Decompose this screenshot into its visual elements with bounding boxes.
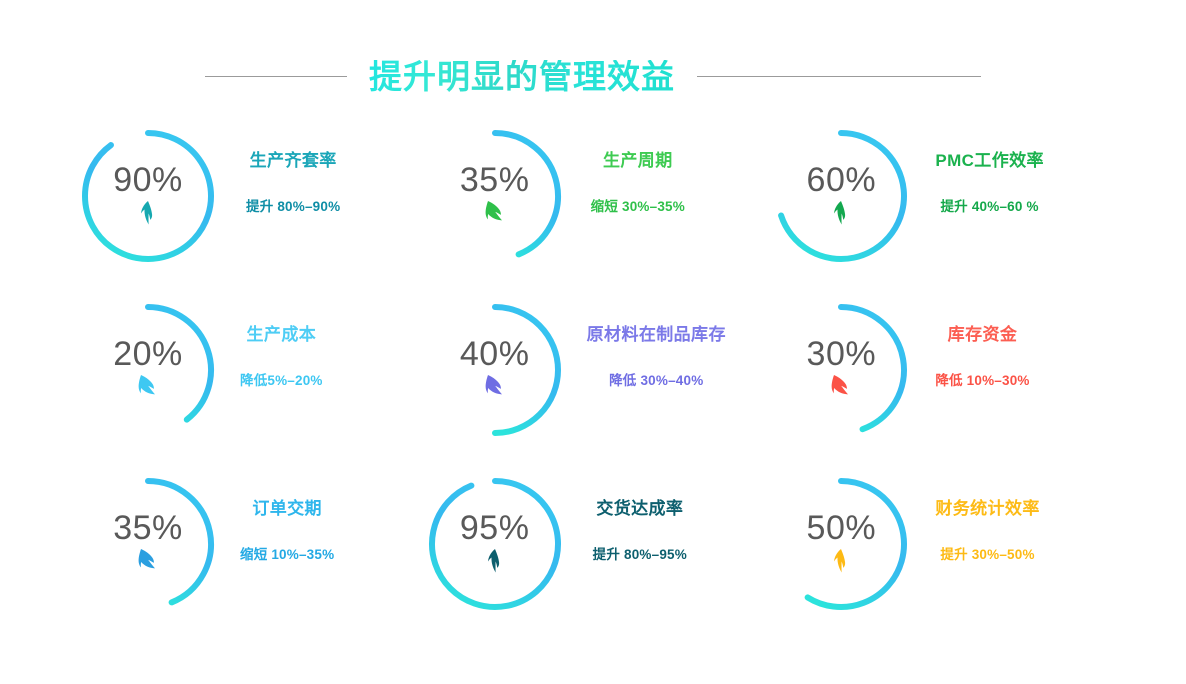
metric-card: 95%交货达成率提升 80%–95% xyxy=(425,468,772,642)
metric-delta: 提升 80%–95% xyxy=(593,543,687,563)
metric-delta: 降低5%–20% xyxy=(240,369,323,389)
metric-labels: 原材料在制品库存降低 30%–40% xyxy=(587,300,726,389)
metric-percent: 35% xyxy=(460,163,530,197)
metric-labels: 生产成本降低5%–20% xyxy=(240,300,323,389)
metric-labels: 财务统计效率提升 30%–50% xyxy=(935,474,1039,563)
metric-percent: 95% xyxy=(460,511,530,545)
arrow-down-icon xyxy=(484,374,506,400)
metric-name: 原材料在制品库存 xyxy=(587,326,726,345)
metric-labels: PMC工作效率提升 40%–60 % xyxy=(935,126,1044,215)
metric-labels: 生产齐套率提升 80%–90% xyxy=(246,126,340,215)
metric-name: 交货达成率 xyxy=(596,500,683,519)
header-rule-right xyxy=(697,76,981,77)
progress-ring: 95% xyxy=(425,474,565,614)
arrow-up-icon xyxy=(137,200,159,226)
ring-center: 50% xyxy=(771,474,911,614)
progress-ring: 40% xyxy=(425,300,565,440)
metric-delta: 降低 30%–40% xyxy=(609,369,703,389)
metric-name: 生产周期 xyxy=(603,152,673,171)
ring-center: 30% xyxy=(771,300,911,440)
slide-canvas: 提升明显的管理效益 90%生产齐套率提升 80%–90%35%生产周期缩短 30… xyxy=(0,0,1186,684)
metric-name: 财务统计效率 xyxy=(935,500,1039,519)
arrow-up-icon xyxy=(830,548,852,574)
metric-card: 40%原材料在制品库存降低 30%–40% xyxy=(425,294,772,468)
metric-percent: 50% xyxy=(807,511,877,545)
metric-labels: 订单交期缩短 10%–35% xyxy=(240,474,334,563)
ring-center: 35% xyxy=(425,126,565,266)
metric-name: 生产成本 xyxy=(247,326,317,345)
progress-ring: 20% xyxy=(78,300,218,440)
metric-card: 50%财务统计效率提升 30%–50% xyxy=(771,468,1118,642)
arrow-up-icon xyxy=(484,548,506,574)
metric-delta: 缩短 30%–35% xyxy=(591,195,685,215)
metric-delta: 提升 30%–50% xyxy=(940,543,1034,563)
ring-center: 60% xyxy=(771,126,911,266)
slide-header: 提升明显的管理效益 xyxy=(0,48,1186,104)
arrow-down-icon xyxy=(484,200,506,226)
metric-delta: 降低 10%–30% xyxy=(935,369,1029,389)
metric-percent: 60% xyxy=(807,163,877,197)
arrow-down-icon xyxy=(137,374,159,400)
ring-center: 95% xyxy=(425,474,565,614)
metric-card: 30%库存资金降低 10%–30% xyxy=(771,294,1118,468)
metric-name: 订单交期 xyxy=(252,500,322,519)
metric-card: 35%生产周期缩短 30%–35% xyxy=(425,120,772,294)
metric-labels: 库存资金降低 10%–30% xyxy=(935,300,1029,389)
metric-name: 库存资金 xyxy=(948,326,1018,345)
metric-delta: 提升 40%–60 % xyxy=(940,195,1038,215)
progress-ring: 60% xyxy=(771,126,911,266)
ring-center: 35% xyxy=(78,474,218,614)
arrow-up-icon xyxy=(830,200,852,226)
progress-ring: 35% xyxy=(425,126,565,266)
metric-name: PMC工作效率 xyxy=(935,152,1044,171)
metric-percent: 20% xyxy=(113,337,183,371)
page-title: 提升明显的管理效益 xyxy=(369,60,675,93)
arrow-down-icon xyxy=(830,374,852,400)
metric-card: 90%生产齐套率提升 80%–90% xyxy=(78,120,425,294)
metric-card: 35%订单交期缩短 10%–35% xyxy=(78,468,425,642)
metric-percent: 30% xyxy=(807,337,877,371)
metric-card: 60%PMC工作效率提升 40%–60 % xyxy=(771,120,1118,294)
arrow-down-icon xyxy=(137,548,159,574)
metric-labels: 交货达成率提升 80%–95% xyxy=(593,474,687,563)
progress-ring: 35% xyxy=(78,474,218,614)
progress-ring: 50% xyxy=(771,474,911,614)
metric-labels: 生产周期缩短 30%–35% xyxy=(591,126,685,215)
ring-center: 20% xyxy=(78,300,218,440)
metric-delta: 提升 80%–90% xyxy=(246,195,340,215)
header-rule-left xyxy=(205,76,347,77)
progress-ring: 30% xyxy=(771,300,911,440)
ring-center: 90% xyxy=(78,126,218,266)
metric-percent: 35% xyxy=(113,511,183,545)
metric-grid: 90%生产齐套率提升 80%–90%35%生产周期缩短 30%–35%60%PM… xyxy=(78,120,1118,660)
metric-card: 20%生产成本降低5%–20% xyxy=(78,294,425,468)
ring-center: 40% xyxy=(425,300,565,440)
metric-delta: 缩短 10%–35% xyxy=(240,543,334,563)
metric-percent: 40% xyxy=(460,337,530,371)
progress-ring: 90% xyxy=(78,126,218,266)
metric-name: 生产齐套率 xyxy=(250,152,337,171)
metric-percent: 90% xyxy=(113,163,183,197)
